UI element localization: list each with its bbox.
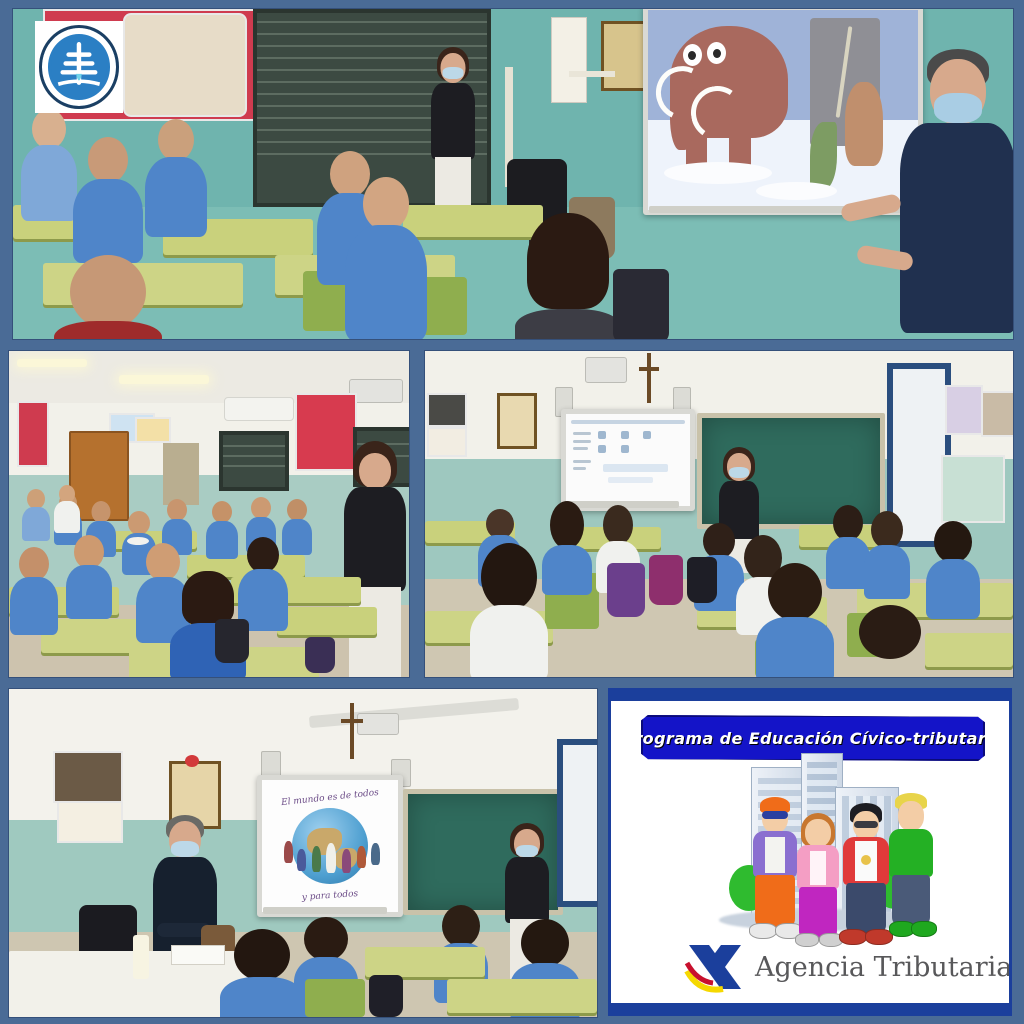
sidebar-text <box>573 447 588 450</box>
character-boy-green <box>883 793 939 943</box>
head-back <box>182 571 234 625</box>
middle-left-photo <box>8 350 410 678</box>
computer-desktop <box>566 414 690 506</box>
chair-back <box>423 277 467 335</box>
torso <box>505 857 549 923</box>
head <box>287 499 307 521</box>
cross-vertical <box>647 353 651 403</box>
shirt-front <box>765 837 785 873</box>
head <box>70 255 146 329</box>
uniform-shirt <box>73 179 143 263</box>
screen-tray <box>263 907 387 914</box>
classroom-door <box>557 739 597 907</box>
backpack <box>687 557 717 603</box>
blind-slat <box>257 33 487 35</box>
uniform-shirt <box>756 617 834 677</box>
people-figure <box>342 849 351 873</box>
student <box>863 511 911 597</box>
student <box>925 521 981 617</box>
middle-right-scene <box>425 351 1013 677</box>
head <box>88 137 128 183</box>
wall-poster-crest <box>123 13 247 117</box>
framed-picture <box>601 21 649 91</box>
crucifix-icon <box>637 353 661 403</box>
teacher-standing <box>339 441 409 677</box>
caveman-figure <box>845 82 883 166</box>
projection-screen <box>561 409 695 511</box>
student <box>755 563 835 677</box>
head-back <box>934 521 972 563</box>
trousers <box>755 875 795 927</box>
blind-slat <box>223 455 285 457</box>
sunglasses-icon <box>762 811 788 819</box>
student <box>143 119 209 233</box>
toolbar-row <box>571 420 685 424</box>
people-figure <box>357 846 366 868</box>
head <box>805 819 831 847</box>
school-logo <box>35 21 123 113</box>
head-back <box>833 505 863 541</box>
frame-ornament <box>185 755 199 767</box>
head <box>128 511 150 535</box>
head-back <box>871 511 903 549</box>
face-mask <box>516 845 538 857</box>
uniform-shirt <box>470 605 548 677</box>
projection-screen: El mundo es de todos y para todos <box>257 775 403 917</box>
agencia-tributaria-wordmark: Agencia Tributaria <box>755 952 1012 983</box>
uniform-shirt <box>22 507 50 541</box>
student <box>53 255 163 339</box>
uniform-shirt <box>515 309 621 339</box>
desk <box>365 947 485 977</box>
chair-back <box>305 979 365 1017</box>
coat-rail <box>569 71 615 77</box>
mammoth-cartoon <box>648 10 918 210</box>
backpack <box>215 619 249 663</box>
teacher-back <box>423 47 483 227</box>
head <box>363 177 409 231</box>
head <box>74 535 104 569</box>
school-logo-cross-icon <box>42 28 116 102</box>
uniform-shirt <box>66 565 112 619</box>
crucifix-icon <box>339 703 365 759</box>
uniform-shirt <box>145 157 207 237</box>
ceiling-projector <box>585 357 627 383</box>
student <box>53 485 81 531</box>
sanitizer-bottle <box>133 935 149 979</box>
snow-patch <box>664 162 772 184</box>
top-photo-scene <box>13 9 1013 339</box>
sidebar-text <box>573 467 585 470</box>
wall-poster <box>981 391 1013 437</box>
mammoth-eye <box>683 44 702 66</box>
shelf-unit <box>163 443 199 505</box>
cross-horizontal <box>341 719 363 723</box>
student <box>469 543 549 677</box>
torso <box>900 123 1013 333</box>
backpack <box>613 269 669 339</box>
student <box>127 537 149 557</box>
desktop-icon <box>598 431 606 439</box>
cross-vertical <box>350 703 354 759</box>
face-mask <box>443 67 464 79</box>
slide-title-top: El mundo es de todos <box>281 788 380 808</box>
people-figure <box>371 843 380 865</box>
wall-calendar <box>57 801 123 843</box>
bottom-left-photo: El mundo es de todos y para todos <box>8 688 598 1018</box>
uniform-shirt <box>542 545 592 595</box>
uniform-shirt <box>10 577 58 635</box>
agencia-tributaria-logo: Agencia Tributaria <box>683 941 1012 993</box>
inner-top <box>810 851 826 885</box>
poster-top-strip <box>611 691 1009 701</box>
desk <box>277 607 377 635</box>
head-back <box>603 505 633 545</box>
face-mask <box>934 93 982 123</box>
air-conditioner <box>224 397 294 421</box>
wall-drawing <box>941 455 1005 523</box>
uniform-shirt <box>54 501 80 533</box>
uniform-shirt <box>345 225 427 339</box>
head <box>27 489 45 509</box>
backpack <box>649 555 683 605</box>
wall-photo <box>53 751 123 803</box>
student <box>65 535 113 615</box>
jeans <box>846 883 886 933</box>
head <box>247 537 279 573</box>
middle-right-photo <box>424 350 1014 678</box>
cross-horizontal <box>639 367 659 371</box>
backpack <box>607 563 645 617</box>
desktop-icon <box>621 431 629 439</box>
selection-row <box>608 477 653 483</box>
classroom-window <box>219 431 289 491</box>
torso <box>431 83 475 159</box>
backpack <box>369 975 403 1017</box>
head <box>32 109 66 149</box>
headband <box>127 537 149 545</box>
head <box>92 501 111 523</box>
slide-title-bottom: y para todos <box>302 889 359 903</box>
wall-charts <box>135 417 171 443</box>
bottom-left-scene: El mundo es de todos y para todos <box>9 689 597 1017</box>
head-back <box>859 605 921 659</box>
uniform-shirt <box>21 145 77 221</box>
school-logo-ring <box>39 25 119 108</box>
agencia-tributaria-poster: Programa de Educación Cívico-tributaria <box>608 688 1012 1016</box>
shirt <box>889 829 933 877</box>
ceiling-light <box>17 359 87 367</box>
framed-religious-picture <box>497 393 537 449</box>
torso <box>344 487 406 591</box>
glasses-icon <box>854 821 878 828</box>
face-mask <box>171 841 199 857</box>
head-back <box>550 501 584 549</box>
head-back <box>304 917 348 961</box>
desktop-icon <box>598 445 606 453</box>
student <box>19 109 79 219</box>
head <box>19 547 49 581</box>
student <box>71 137 145 257</box>
face-mask <box>729 467 749 478</box>
people-figure <box>326 843 336 873</box>
wall-photo <box>427 393 467 427</box>
sidebar-text <box>573 440 590 443</box>
student <box>513 213 623 339</box>
desk <box>447 979 597 1013</box>
medal-icon <box>861 855 871 865</box>
sidebar-text <box>573 432 590 435</box>
top-photo <box>12 8 1014 340</box>
head <box>167 499 187 521</box>
head-back <box>481 543 537 611</box>
wall-calendar <box>427 427 467 457</box>
stacked-papers <box>171 945 225 965</box>
snow-patch <box>756 182 837 200</box>
people-figure <box>312 846 321 872</box>
student <box>21 489 51 539</box>
selection-row <box>603 464 668 472</box>
poster-bottom-strip <box>611 1003 1009 1013</box>
desktop-icon <box>643 431 651 439</box>
head-back <box>768 563 822 621</box>
head <box>898 801 924 831</box>
blind-slat <box>223 445 285 447</box>
shoe <box>911 921 937 937</box>
head-back <box>703 523 735 559</box>
bulletin-board-red <box>17 401 49 467</box>
head <box>251 497 271 519</box>
head <box>158 119 194 161</box>
uniform-shirt <box>206 521 238 559</box>
people-figure <box>297 849 306 871</box>
wall-calendar <box>551 17 587 103</box>
ceiling-light <box>119 375 209 384</box>
ceiling-projector <box>349 379 403 403</box>
student <box>205 501 239 557</box>
blind-slat <box>257 21 487 23</box>
poster-banner-text: Programa de Educación Cívico-tributaria <box>623 729 1004 748</box>
student <box>9 547 59 633</box>
desk <box>925 633 1013 667</box>
head-back <box>527 213 609 309</box>
sidebar-text <box>573 460 590 463</box>
student <box>845 605 935 677</box>
head-back <box>234 929 290 981</box>
middle-left-scene <box>9 351 409 677</box>
shoe <box>749 923 777 939</box>
photo-collage: El mundo es de todos y para todos <box>0 0 1024 1024</box>
blind-slat <box>223 465 285 467</box>
uniform-shirt <box>220 977 304 1017</box>
presentation-slide: El mundo es de todos y para todos <box>262 780 398 912</box>
backpack <box>305 637 335 673</box>
head <box>212 501 232 523</box>
wall-poster <box>945 385 983 435</box>
head-back <box>521 919 569 967</box>
presenter-man <box>893 49 1013 339</box>
desktop-icon <box>621 445 629 453</box>
trousers <box>799 887 837 939</box>
people-figure <box>284 841 293 863</box>
plant <box>810 122 837 190</box>
student <box>343 177 429 339</box>
uniform-shirt <box>54 321 162 339</box>
head <box>359 453 391 489</box>
interactive-whiteboard <box>643 9 923 215</box>
head-back <box>442 905 480 947</box>
agencia-tributaria-arrow-icon <box>683 941 747 993</box>
jeans <box>892 875 930 925</box>
uniform-shirt <box>864 545 910 599</box>
